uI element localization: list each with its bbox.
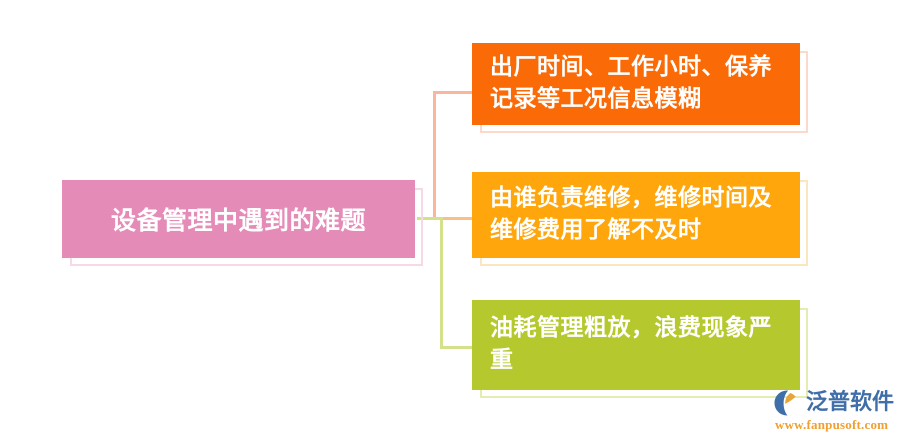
connector-horizontal-branch-1	[433, 91, 475, 94]
branch-node-2[interactable]: 由谁负责维修，维修时间及维修费用了解不及时	[472, 172, 800, 258]
mindmap-canvas: 设备管理中遇到的难题 出厂时间、工作小时、保养记录等工况信息模糊 由谁负责维修，…	[0, 0, 906, 437]
watermark-url: www.fanpusoft.com	[775, 417, 903, 433]
watermark-logo-row: 泛普软件	[773, 388, 903, 418]
watermark: 泛普软件 www.fanpusoft.com	[773, 388, 903, 434]
branch-2-label: 由谁负责维修，维修时间及维修费用了解不及时	[490, 183, 782, 246]
branch-node-1[interactable]: 出厂时间、工作小时、保养记录等工况信息模糊	[472, 43, 800, 125]
root-node-label: 设备管理中遇到的难题	[62, 201, 415, 237]
connector-vertical-bottom	[440, 217, 443, 349]
branch-3-label: 油耗管理粗放，浪费现象严重	[490, 313, 782, 376]
watermark-brand: 泛普软件	[806, 389, 894, 417]
branch-node-3[interactable]: 油耗管理粗放，浪费现象严重	[472, 300, 800, 390]
branch-1-label: 出厂时间、工作小时、保养记录等工况信息模糊	[490, 52, 782, 115]
root-node[interactable]: 设备管理中遇到的难题	[62, 180, 415, 258]
fanpu-logo-icon	[773, 389, 803, 417]
connector-vertical-top	[433, 91, 436, 219]
connector-horizontal-branch-3	[440, 346, 475, 349]
